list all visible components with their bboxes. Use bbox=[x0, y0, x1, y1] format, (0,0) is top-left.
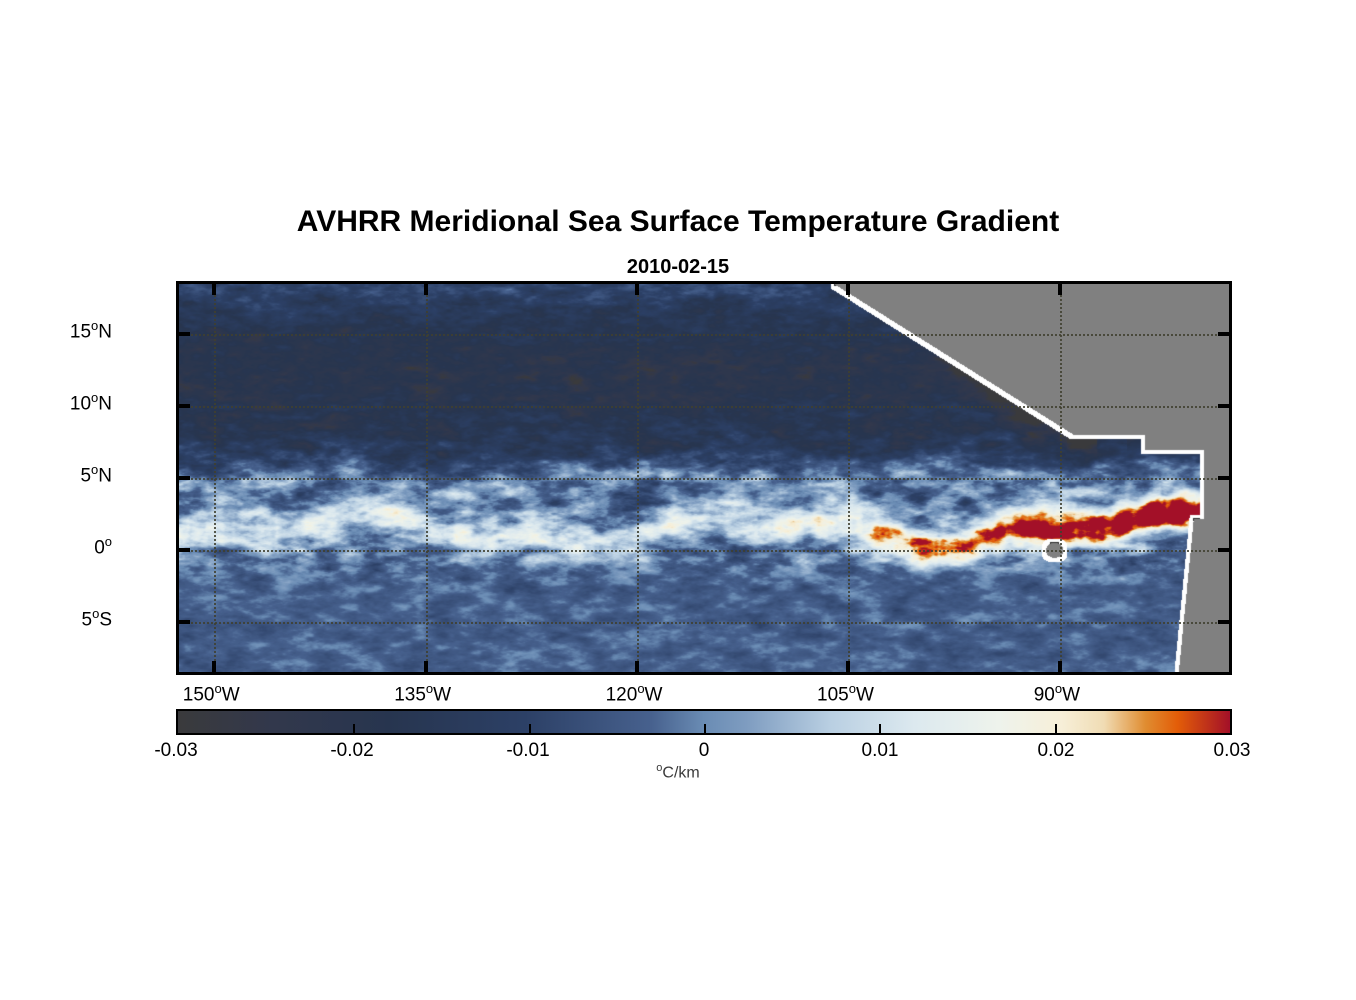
colorbar-tick bbox=[704, 724, 706, 733]
gridline-lon bbox=[426, 284, 428, 672]
axis-tick bbox=[1218, 332, 1229, 336]
colorbar-tick-label: 0 bbox=[634, 740, 774, 762]
gridline-lat bbox=[179, 334, 1229, 336]
axis-tick bbox=[1218, 476, 1229, 480]
y-tick-label: 10oN bbox=[0, 390, 112, 415]
gridline-lat bbox=[179, 478, 1229, 480]
colorbar-tick bbox=[529, 724, 531, 733]
axis-tick bbox=[1218, 548, 1229, 552]
colorbar-tick bbox=[353, 724, 355, 733]
axis-tick bbox=[424, 661, 428, 672]
gridline-lon bbox=[848, 284, 850, 672]
axis-tick bbox=[179, 476, 190, 480]
colorbar bbox=[176, 709, 1232, 735]
colorbar-tick bbox=[879, 724, 881, 733]
colorbar-tick-label: -0.03 bbox=[106, 740, 246, 762]
axis-tick bbox=[1218, 620, 1229, 624]
gridline-lon bbox=[1060, 284, 1062, 672]
figure-subtitle: 2010-02-15 bbox=[0, 256, 1356, 279]
axis-tick bbox=[179, 548, 190, 552]
axis-tick bbox=[635, 661, 639, 672]
axis-tick bbox=[1058, 284, 1062, 295]
colorbar-units-label: oC/km bbox=[0, 762, 1356, 782]
page-title: AVHRR Meridional Sea Surface Temperature… bbox=[0, 205, 1356, 239]
y-tick-label: 15oN bbox=[0, 318, 112, 343]
gridline-lon bbox=[637, 284, 639, 672]
gridline-lat bbox=[179, 622, 1229, 624]
axis-tick bbox=[846, 284, 850, 295]
colorbar-tick-label: -0.02 bbox=[282, 740, 422, 762]
x-tick-label: 105oW bbox=[775, 681, 915, 706]
gridline-lat bbox=[179, 406, 1229, 408]
axis-tick bbox=[635, 284, 639, 295]
x-tick-label: 120oW bbox=[564, 681, 704, 706]
y-tick-label: 5oS bbox=[0, 606, 112, 631]
map-axes bbox=[176, 281, 1232, 675]
axis-tick bbox=[212, 284, 216, 295]
x-tick-label: 135oW bbox=[353, 681, 493, 706]
axis-tick bbox=[424, 284, 428, 295]
axis-tick bbox=[1058, 661, 1062, 672]
gridline-lat bbox=[179, 550, 1229, 552]
x-tick-label: 150oW bbox=[141, 681, 281, 706]
colorbar-tick bbox=[1055, 724, 1057, 733]
axis-tick bbox=[846, 661, 850, 672]
y-tick-label: 5oN bbox=[0, 462, 112, 487]
colorbar-tick-label: 0.02 bbox=[986, 740, 1126, 762]
axis-tick bbox=[179, 332, 190, 336]
colorbar-tick-label: 0.01 bbox=[810, 740, 950, 762]
x-tick-label: 90oW bbox=[987, 681, 1127, 706]
y-tick-label: 0o bbox=[0, 534, 112, 559]
colorbar-tick-label: 0.03 bbox=[1162, 740, 1302, 762]
colorbar-tick-label: -0.01 bbox=[458, 740, 598, 762]
axis-tick bbox=[179, 404, 190, 408]
sst-gradient-figure: AVHRR Meridional Sea Surface Temperature… bbox=[0, 0, 1356, 1000]
axis-tick bbox=[212, 661, 216, 672]
gridline-lon bbox=[214, 284, 216, 672]
axis-tick bbox=[179, 620, 190, 624]
axis-tick bbox=[1218, 404, 1229, 408]
